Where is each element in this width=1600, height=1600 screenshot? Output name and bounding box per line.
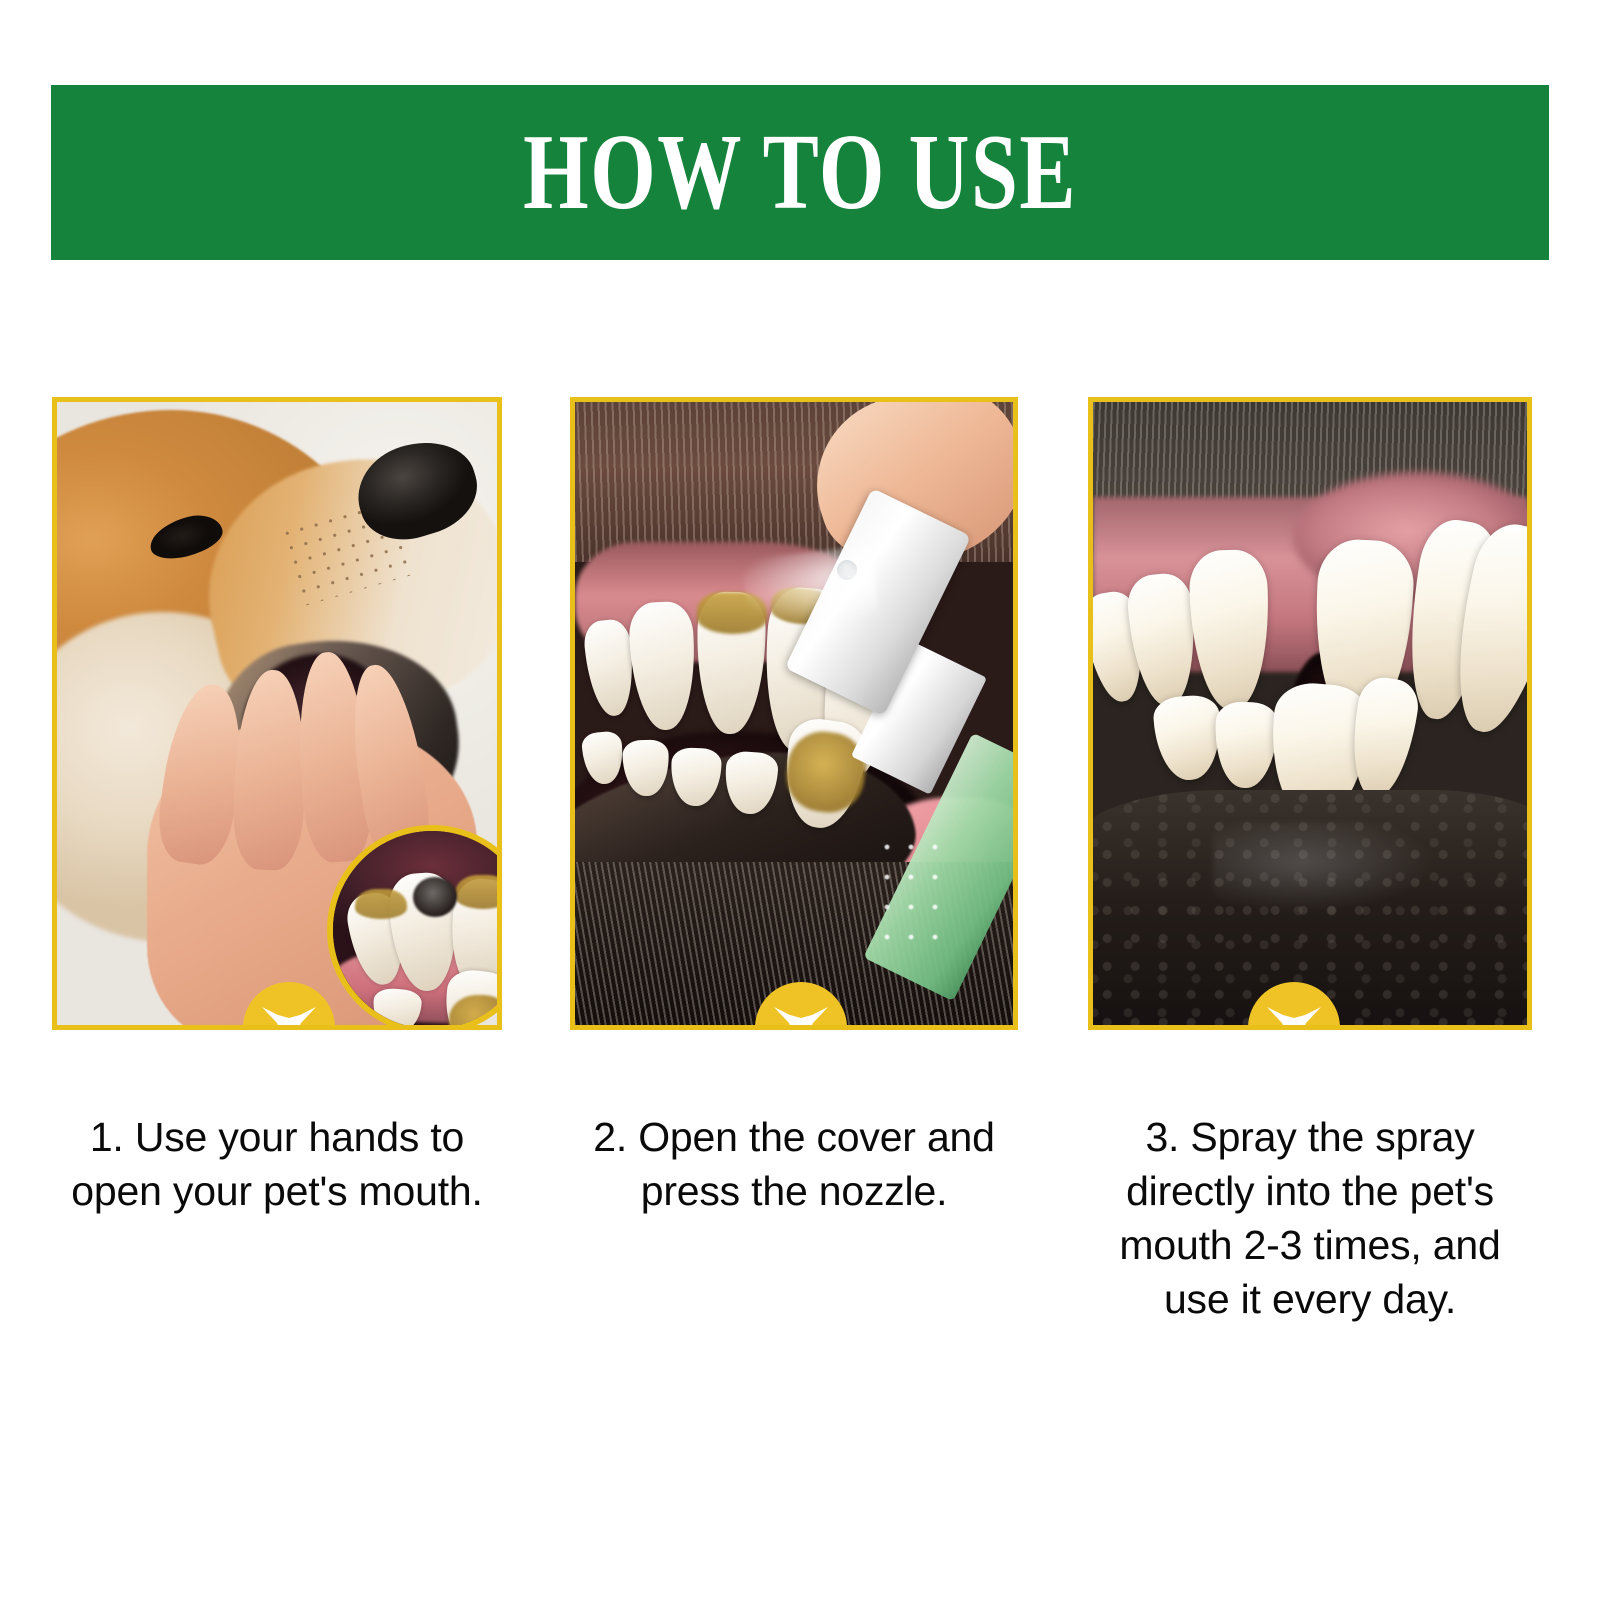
chevron-down-icon [1265, 1001, 1323, 1030]
lip-sheen [1213, 822, 1433, 912]
tartar-closeup-inset [327, 825, 502, 1030]
step-3-photo [1093, 402, 1527, 1025]
page-title: HOW TO USE [523, 119, 1077, 227]
inset-tartar-stain [455, 875, 502, 909]
step-1: 1. Use your hands to open your pet's mou… [52, 397, 502, 1218]
chevron-down-icon [260, 1001, 318, 1030]
step-3: 3. Spray the spray directly into the pet… [1088, 397, 1532, 1326]
step-3-caption: 3. Spray the spray directly into the pet… [1088, 1110, 1532, 1326]
step-1-caption: 1. Use your hands to open your pet's mou… [52, 1110, 502, 1218]
step-1-photo-frame [52, 397, 502, 1030]
step-2: 2. Open the cover and press the nozzle. [570, 397, 1018, 1218]
step-2-caption: 2. Open the cover and press the nozzle. [570, 1110, 1018, 1218]
inset-dark-plaque [413, 877, 457, 917]
how-to-use-banner: HOW TO USE [51, 85, 1549, 260]
step-3-photo-frame [1088, 397, 1532, 1030]
spray-mist [742, 545, 879, 628]
spray-droplets [875, 832, 945, 962]
step-2-photo-frame [570, 397, 1018, 1030]
step-2-photo [575, 402, 1013, 1025]
chevron-down-icon [772, 1001, 830, 1030]
inset-tartar-stain [355, 889, 407, 919]
